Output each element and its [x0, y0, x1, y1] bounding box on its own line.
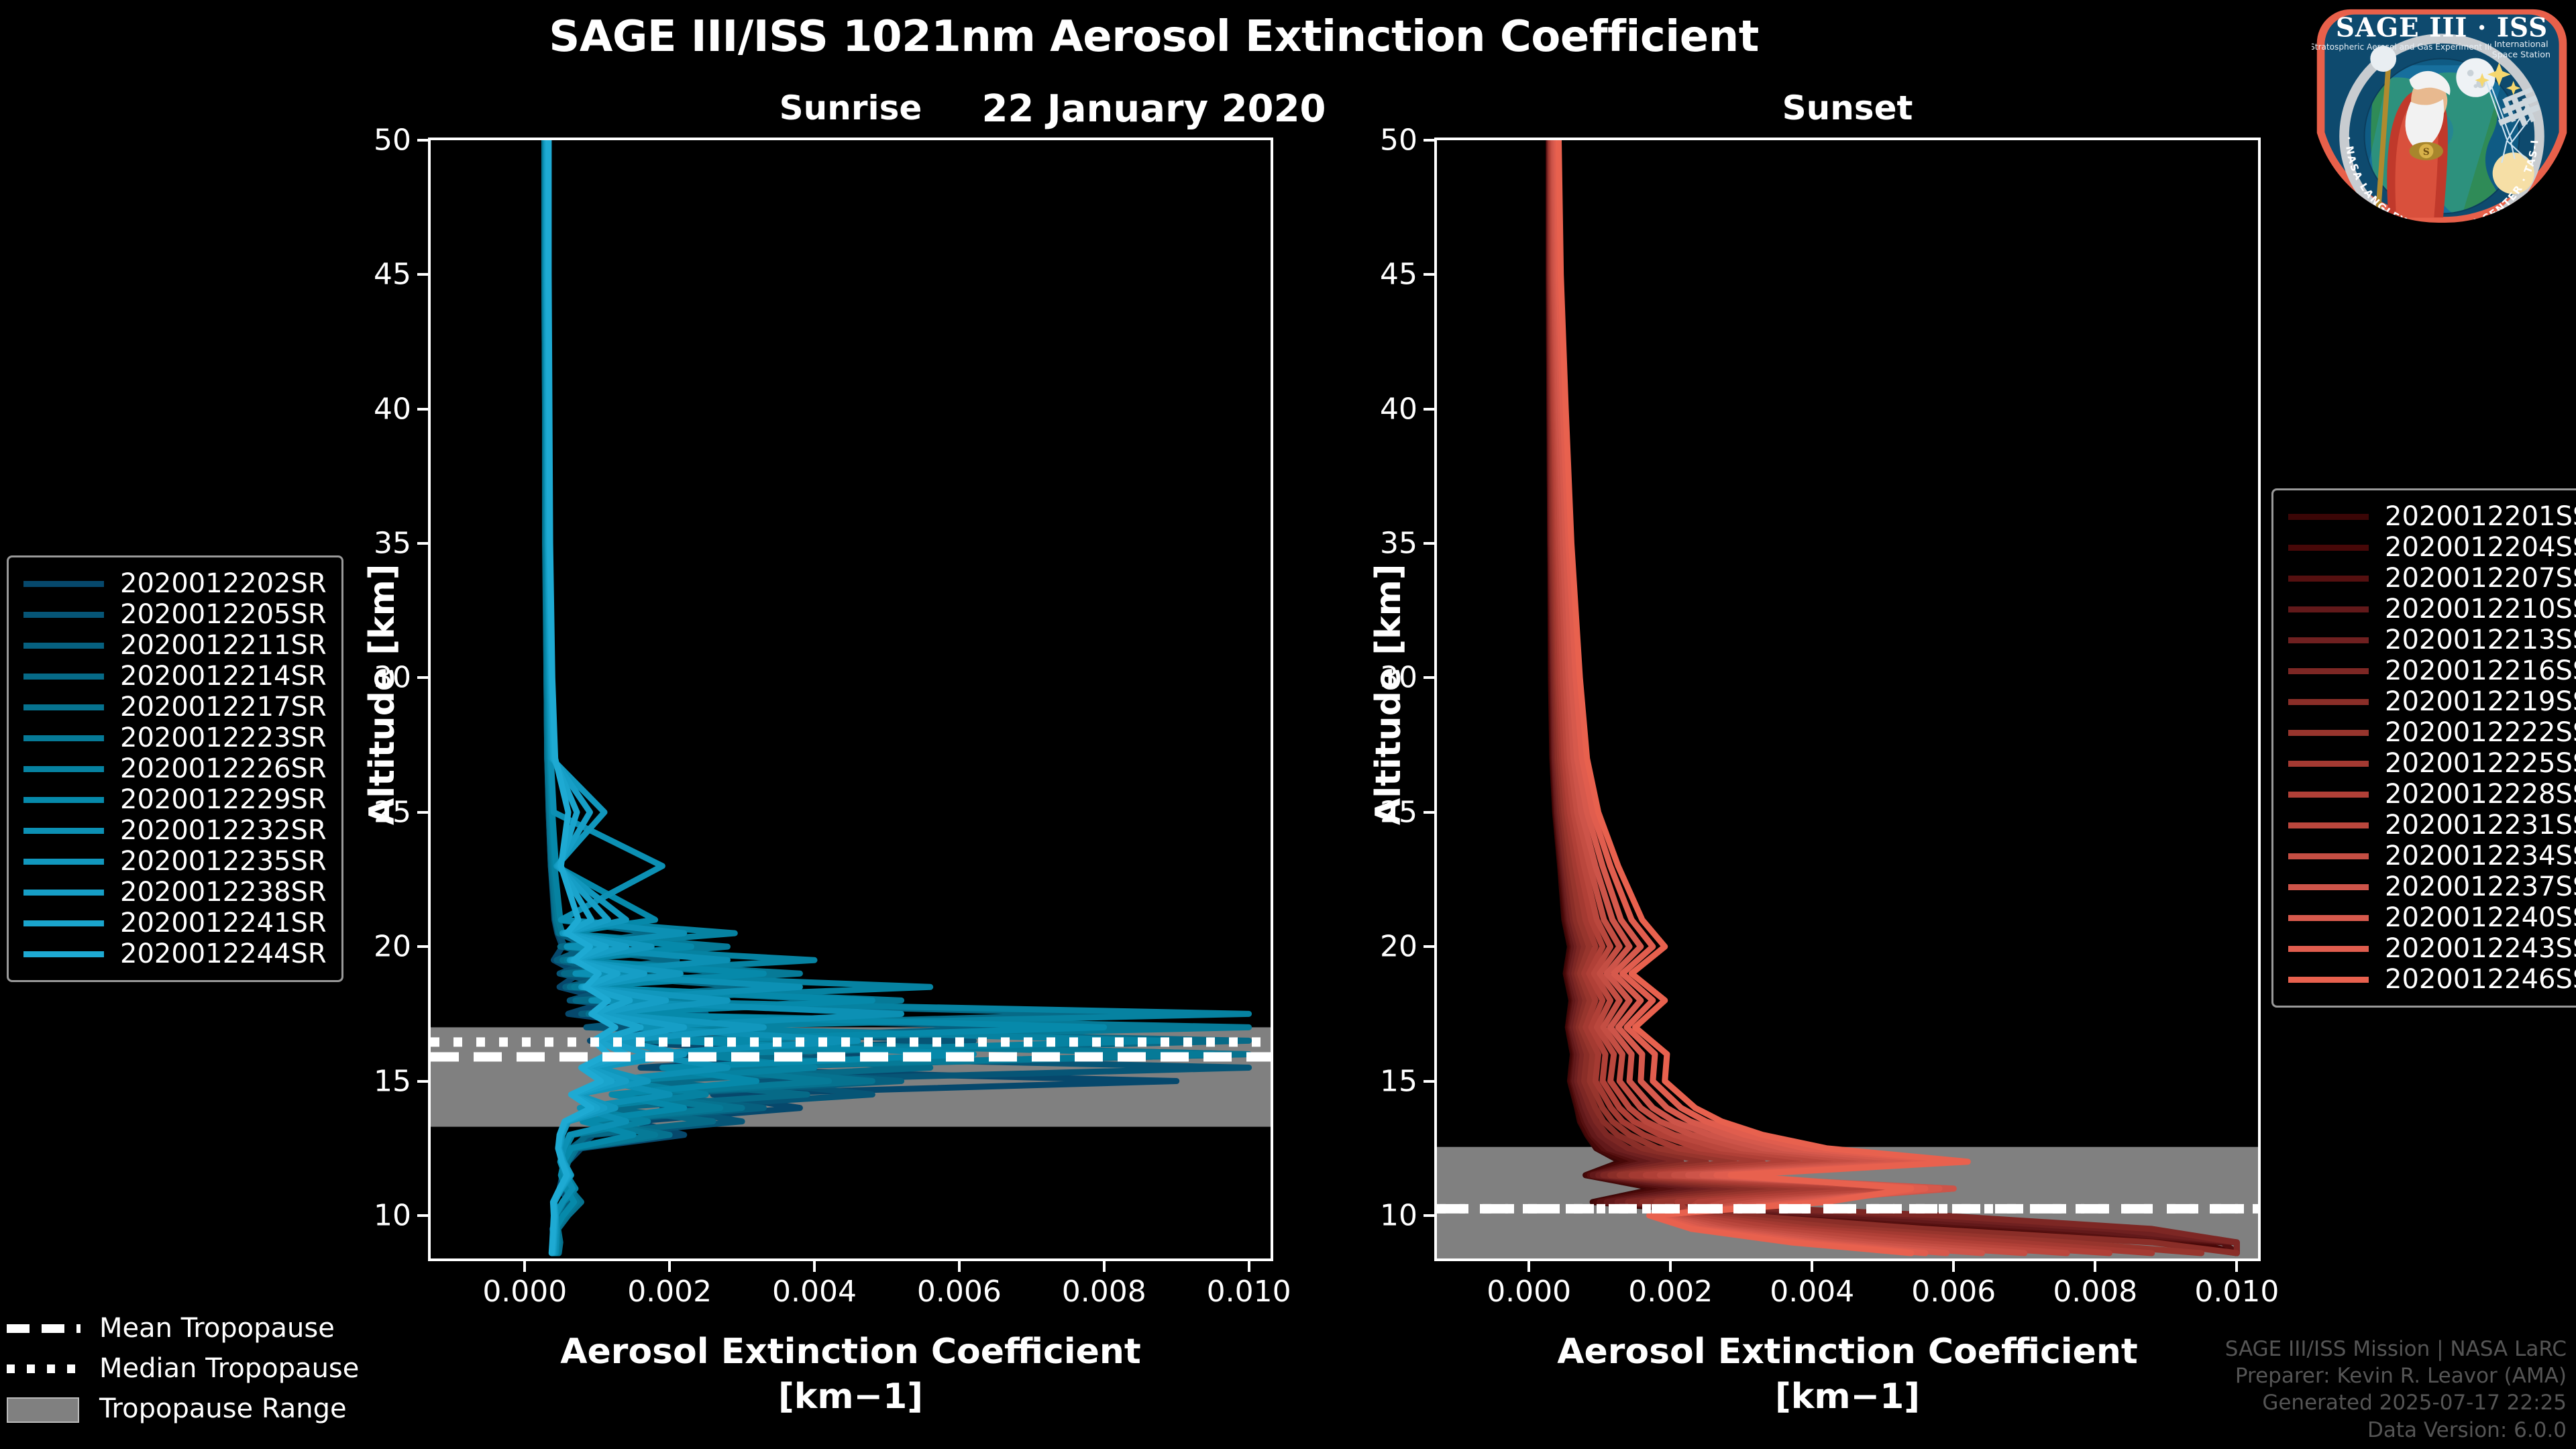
xaxis-unit-sunrise: [km−1]: [428, 1377, 1273, 1417]
legend-sunrise-label: 2020012244SR: [120, 938, 327, 969]
legend-sunrise-item[interactable]: 2020012211SR: [23, 630, 327, 661]
legend-sunset-color-swatch: [2288, 545, 2369, 551]
logo-subtitle-right-2: Space Station: [2492, 50, 2551, 60]
legend-sunset-label: 2020012231SS: [2385, 810, 2576, 841]
y-axis-tick-mark: [417, 811, 428, 814]
profile-line: [1550, 140, 2237, 1253]
x-axis-tick-mark: [2235, 1261, 2238, 1272]
tropopause-swatch-mark: [7, 1364, 80, 1373]
legend-sunset-item[interactable]: 2020012228SS: [2288, 779, 2576, 810]
y-axis-tick-mark: [417, 408, 428, 411]
credits-mission: SAGE III/ISS Mission | NASA LaRC: [2225, 1336, 2567, 1362]
legend-sunrise-item[interactable]: 2020012217SR: [23, 692, 327, 722]
legend-sunset-label: 2020012201SS: [2385, 501, 2576, 532]
plot-canvas-sunrise: [431, 140, 1271, 1258]
y-axis-tick-mark: [1424, 408, 1434, 411]
y-axis-tick-mark: [417, 139, 428, 142]
profile-line: [1554, 140, 1982, 1253]
y-axis-tick-label: 35: [1317, 527, 1417, 561]
legend-sunset-color-swatch: [2288, 576, 2369, 582]
page-title: SAGE III/ISS 1021nm Aerosol Extinction C…: [0, 12, 2308, 62]
legend-sunrise-color-swatch: [23, 735, 104, 741]
y-axis-tick-mark: [1424, 273, 1434, 276]
yaxis-title-sunrise: Altitude [km]: [362, 563, 402, 825]
legend-sunrise-item[interactable]: 2020012235SR: [23, 846, 327, 877]
x-axis-tick-label: 0.002: [589, 1275, 750, 1309]
x-axis-tick-mark: [1669, 1261, 1672, 1272]
x-axis-tick-mark: [1248, 1261, 1250, 1272]
legend-sunset-item[interactable]: 2020012210SS: [2288, 594, 2576, 625]
credits-generated: Generated 2025-07-17 22:25: [2225, 1389, 2567, 1416]
profile-line: [1554, 140, 2025, 1253]
legend-sunrise-item[interactable]: 2020012214SR: [23, 661, 327, 692]
y-axis-tick-mark: [417, 542, 428, 545]
x-axis-tick-label: 0.000: [1448, 1275, 1609, 1309]
legend-sunrise[interactable]: 2020012202SR2020012205SR2020012211SR2020…: [7, 555, 343, 982]
legend-sunrise-label: 2020012226SR: [120, 753, 327, 784]
plot-area-sunset[interactable]: [1434, 138, 2261, 1261]
legend-sunrise-label: 2020012223SR: [120, 722, 327, 753]
tropopause-band-swatch: [7, 1399, 80, 1418]
xaxis-unit-sunset: [km−1]: [1434, 1377, 2261, 1417]
tropopause-dotted-swatch: [7, 1359, 80, 1378]
panel-title-sunrise: Sunrise: [428, 89, 1273, 127]
legend-sunset-item[interactable]: 2020012219SS: [2288, 686, 2576, 717]
logo-subtitle-left: Stratospheric Aerosol and Gas Experiment…: [2312, 42, 2492, 52]
legend-sunrise-item[interactable]: 2020012202SR: [23, 568, 327, 599]
x-axis-tick-mark: [1952, 1261, 1955, 1272]
profile-line: [1549, 140, 2237, 1253]
legend-sunset-color-swatch: [2288, 637, 2369, 643]
y-axis-tick-mark: [1424, 1080, 1434, 1083]
legend-sunset-label: 2020012210SS: [2385, 594, 2576, 625]
legend-sunrise-item[interactable]: 2020012223SR: [23, 722, 327, 753]
legend-sunset-item[interactable]: 2020012246SS: [2288, 964, 2576, 995]
y-axis-tick-mark: [1424, 1214, 1434, 1217]
x-axis-tick-mark: [523, 1261, 526, 1272]
legend-sunset-color-swatch: [2288, 668, 2369, 674]
legend-sunrise-color-swatch: [23, 643, 104, 649]
profile-line: [1549, 140, 2237, 1253]
legend-sunrise-item[interactable]: 2020012226SR: [23, 753, 327, 784]
x-axis-tick-mark: [813, 1261, 816, 1272]
y-axis-tick-mark: [417, 945, 428, 948]
legend-sunrise-color-swatch: [23, 828, 104, 834]
legend-sunset-color-swatch: [2288, 884, 2369, 890]
legend-sunrise-item[interactable]: 2020012205SR: [23, 599, 327, 630]
legend-sunset-label: 2020012225SS: [2385, 748, 2576, 779]
legend-sunset-color-swatch: [2288, 699, 2369, 705]
x-axis-tick-label: 0.004: [734, 1275, 895, 1309]
x-axis-tick-mark: [958, 1261, 961, 1272]
credits-block: SAGE III/ISS Mission | NASA LaRC Prepare…: [2225, 1336, 2567, 1444]
x-axis-tick-label: 0.000: [444, 1275, 605, 1309]
legend-sunset-color-swatch: [2288, 761, 2369, 767]
y-axis-tick-mark: [1424, 139, 1434, 142]
legend-sunset-item[interactable]: 2020012222SS: [2288, 717, 2576, 748]
x-axis-tick-mark: [1103, 1261, 1106, 1272]
y-axis-tick-label: 45: [311, 258, 411, 292]
legend-sunset-label: 2020012222SS: [2385, 717, 2576, 748]
y-axis-tick-mark: [1424, 542, 1434, 545]
y-axis-tick-label: 20: [1317, 930, 1417, 964]
y-axis-tick-mark: [417, 676, 428, 679]
x-axis-tick-label: 0.010: [1169, 1275, 1330, 1309]
tropopause-dashed-swatch: [7, 1319, 80, 1338]
legend-sunrise-color-swatch: [23, 704, 104, 710]
y-axis-tick-mark: [1424, 811, 1434, 814]
legend-sunset-label: 2020012213SS: [2385, 625, 2576, 655]
xaxis-title-sunrise: Aerosol Extinction Coefficient: [428, 1332, 1273, 1372]
x-axis-tick-label: 0.002: [1590, 1275, 1751, 1309]
legend-sunset-label: 2020012234SS: [2385, 841, 2576, 871]
legend-sunset-color-swatch: [2288, 915, 2369, 921]
y-axis-tick-mark: [1424, 945, 1434, 948]
legend-sunset-color-swatch: [2288, 853, 2369, 859]
legend-sunset-color-swatch: [2288, 977, 2369, 983]
legend-sunset-label: 2020012228SS: [2385, 779, 2576, 810]
y-axis-tick-label: 15: [1317, 1064, 1417, 1098]
legend-sunrise-color-swatch: [23, 766, 104, 772]
legend-tropopause[interactable]: Mean TropopauseMedian TropopauseTropopau…: [7, 1308, 359, 1429]
legend-sunset-item[interactable]: 2020012204SS: [2288, 532, 2576, 563]
legend-sunset-label: 2020012207SS: [2385, 563, 2576, 594]
y-axis-tick-mark: [417, 1214, 428, 1217]
logo-subtitle-right-1: International: [2494, 39, 2548, 49]
x-axis-tick-mark: [2094, 1261, 2096, 1272]
legend-sunset-color-swatch: [2288, 946, 2369, 952]
y-axis-tick-label: 40: [311, 392, 411, 426]
profile-line: [1550, 140, 2237, 1253]
legend-sunrise-label: 2020012202SR: [120, 568, 327, 599]
y-axis-tick-label: 10: [1317, 1198, 1417, 1232]
x-axis-tick-mark: [668, 1261, 671, 1272]
x-axis-tick-mark: [1811, 1261, 1813, 1272]
legend-tropopause-label: Mean Tropopause: [99, 1313, 335, 1344]
legend-sunset-label: 2020012240SS: [2385, 902, 2576, 933]
legend-sunrise-item[interactable]: 2020012244SR: [23, 938, 327, 969]
xaxis-title-sunset: Aerosol Extinction Coefficient: [1434, 1332, 2261, 1372]
legend-sunrise-color-swatch: [23, 859, 104, 865]
y-axis-tick-label: 40: [1317, 392, 1417, 426]
legend-sunrise-label: 2020012229SR: [120, 784, 327, 815]
legend-sunrise-color-swatch: [23, 951, 104, 957]
x-axis-tick-label: 0.008: [2015, 1275, 2176, 1309]
plot-canvas-sunset: [1437, 140, 2258, 1258]
y-axis-tick-label: 50: [311, 123, 411, 158]
plot-area-sunrise[interactable]: [428, 138, 1273, 1261]
legend-sunset-item[interactable]: 2020012216SS: [2288, 655, 2576, 686]
legend-sunset-color-swatch: [2288, 606, 2369, 612]
legend-sunset-color-swatch: [2288, 514, 2369, 520]
legend-sunset-item[interactable]: 2020012240SS: [2288, 902, 2576, 933]
x-axis-tick-mark: [1527, 1261, 1530, 1272]
y-axis-tick-label: 10: [311, 1198, 411, 1232]
legend-sunset-label: 2020012243SS: [2385, 933, 2576, 964]
legend-sunset-item[interactable]: 2020012201SS: [2288, 501, 2576, 532]
legend-sunset-label: 2020012219SS: [2385, 686, 2576, 717]
legend-sunset-color-swatch: [2288, 792, 2369, 798]
legend-sunrise-color-swatch: [23, 674, 104, 680]
x-axis-tick-label: 0.004: [1731, 1275, 1892, 1309]
legend-tropopause-label: Tropopause Range: [99, 1393, 347, 1424]
legend-sunset-label: 2020012246SS: [2385, 964, 2576, 995]
legend-sunrise-label: 2020012217SR: [120, 692, 327, 722]
svg-text:S: S: [2423, 147, 2430, 158]
legend-sunrise-label: 2020012241SR: [120, 908, 327, 938]
legend-sunset-label: 2020012237SS: [2385, 871, 2576, 902]
y-axis-tick-label: 15: [311, 1064, 411, 1098]
legend-sunrise-item[interactable]: 2020012241SR: [23, 908, 327, 938]
legend-sunset-label: 2020012216SS: [2385, 655, 2576, 686]
y-axis-tick-label: 45: [1317, 258, 1417, 292]
legend-sunrise-color-swatch: [23, 797, 104, 803]
legend-sunset-item[interactable]: 2020012243SS: [2288, 933, 2576, 964]
legend-sunrise-label: 2020012235SR: [120, 846, 327, 877]
legend-sunset[interactable]: 2020012201SS2020012204SS2020012207SS2020…: [2271, 488, 2576, 1008]
x-axis-tick-label: 0.006: [1873, 1275, 2034, 1309]
legend-sunset-item[interactable]: 2020012231SS: [2288, 810, 2576, 841]
legend-tropopause-item[interactable]: Mean Tropopause: [7, 1308, 359, 1348]
profile-line: [1550, 140, 2237, 1253]
yaxis-title-sunset: Altitude [km]: [1368, 563, 1409, 825]
legend-sunrise-label: 2020012214SR: [120, 661, 327, 692]
credits-data-version: Data Version: 6.0.0: [2225, 1417, 2567, 1444]
legend-sunrise-label: 2020012211SR: [120, 630, 327, 661]
legend-sunrise-color-swatch: [23, 612, 104, 618]
x-axis-tick-label: 0.008: [1024, 1275, 1185, 1309]
legend-tropopause-item[interactable]: Median Tropopause: [7, 1348, 359, 1389]
y-axis-tick-mark: [417, 273, 428, 276]
legend-sunset-item[interactable]: 2020012234SS: [2288, 841, 2576, 871]
credits-preparer: Preparer: Kevin R. Leavor (AMA): [2225, 1362, 2567, 1389]
sage-iii-iss-logo: S BALL · NASA LANGLEY RESEARCH CENTER · …: [2312, 3, 2572, 225]
y-axis-tick-mark: [417, 1080, 428, 1083]
legend-sunset-item[interactable]: 2020012237SS: [2288, 871, 2576, 902]
legend-sunset-item[interactable]: 2020012213SS: [2288, 625, 2576, 655]
x-axis-tick-label: 0.006: [879, 1275, 1040, 1309]
legend-sunset-item[interactable]: 2020012207SS: [2288, 563, 2576, 594]
panel-title-sunset: Sunset: [1434, 89, 2261, 127]
tropopause-swatch-mark: [7, 1397, 79, 1423]
legend-sunrise-label: 2020012238SR: [120, 877, 327, 908]
tropopause-swatch-mark: [7, 1324, 80, 1333]
y-axis-tick-label: 50: [1317, 123, 1417, 158]
profile-line: [1551, 140, 2237, 1253]
legend-sunset-color-swatch: [2288, 730, 2369, 736]
legend-sunset-item[interactable]: 2020012225SS: [2288, 748, 2576, 779]
legend-tropopause-item[interactable]: Tropopause Range: [7, 1389, 359, 1429]
legend-sunrise-color-swatch: [23, 581, 104, 587]
y-axis-tick-mark: [1424, 676, 1434, 679]
legend-sunset-color-swatch: [2288, 822, 2369, 828]
legend-sunrise-label: 2020012205SR: [120, 599, 327, 630]
legend-sunrise-item[interactable]: 2020012238SR: [23, 877, 327, 908]
legend-sunrise-item[interactable]: 2020012229SR: [23, 784, 327, 815]
legend-sunrise-item[interactable]: 2020012232SR: [23, 815, 327, 846]
legend-sunrise-color-swatch: [23, 920, 104, 926]
legend-sunrise-color-swatch: [23, 890, 104, 896]
legend-sunset-label: 2020012204SS: [2385, 532, 2576, 563]
profile-line: [1550, 140, 2237, 1253]
x-axis-tick-label: 0.010: [2156, 1275, 2317, 1309]
legend-tropopause-label: Median Tropopause: [99, 1353, 359, 1384]
legend-sunrise-label: 2020012232SR: [120, 815, 327, 846]
